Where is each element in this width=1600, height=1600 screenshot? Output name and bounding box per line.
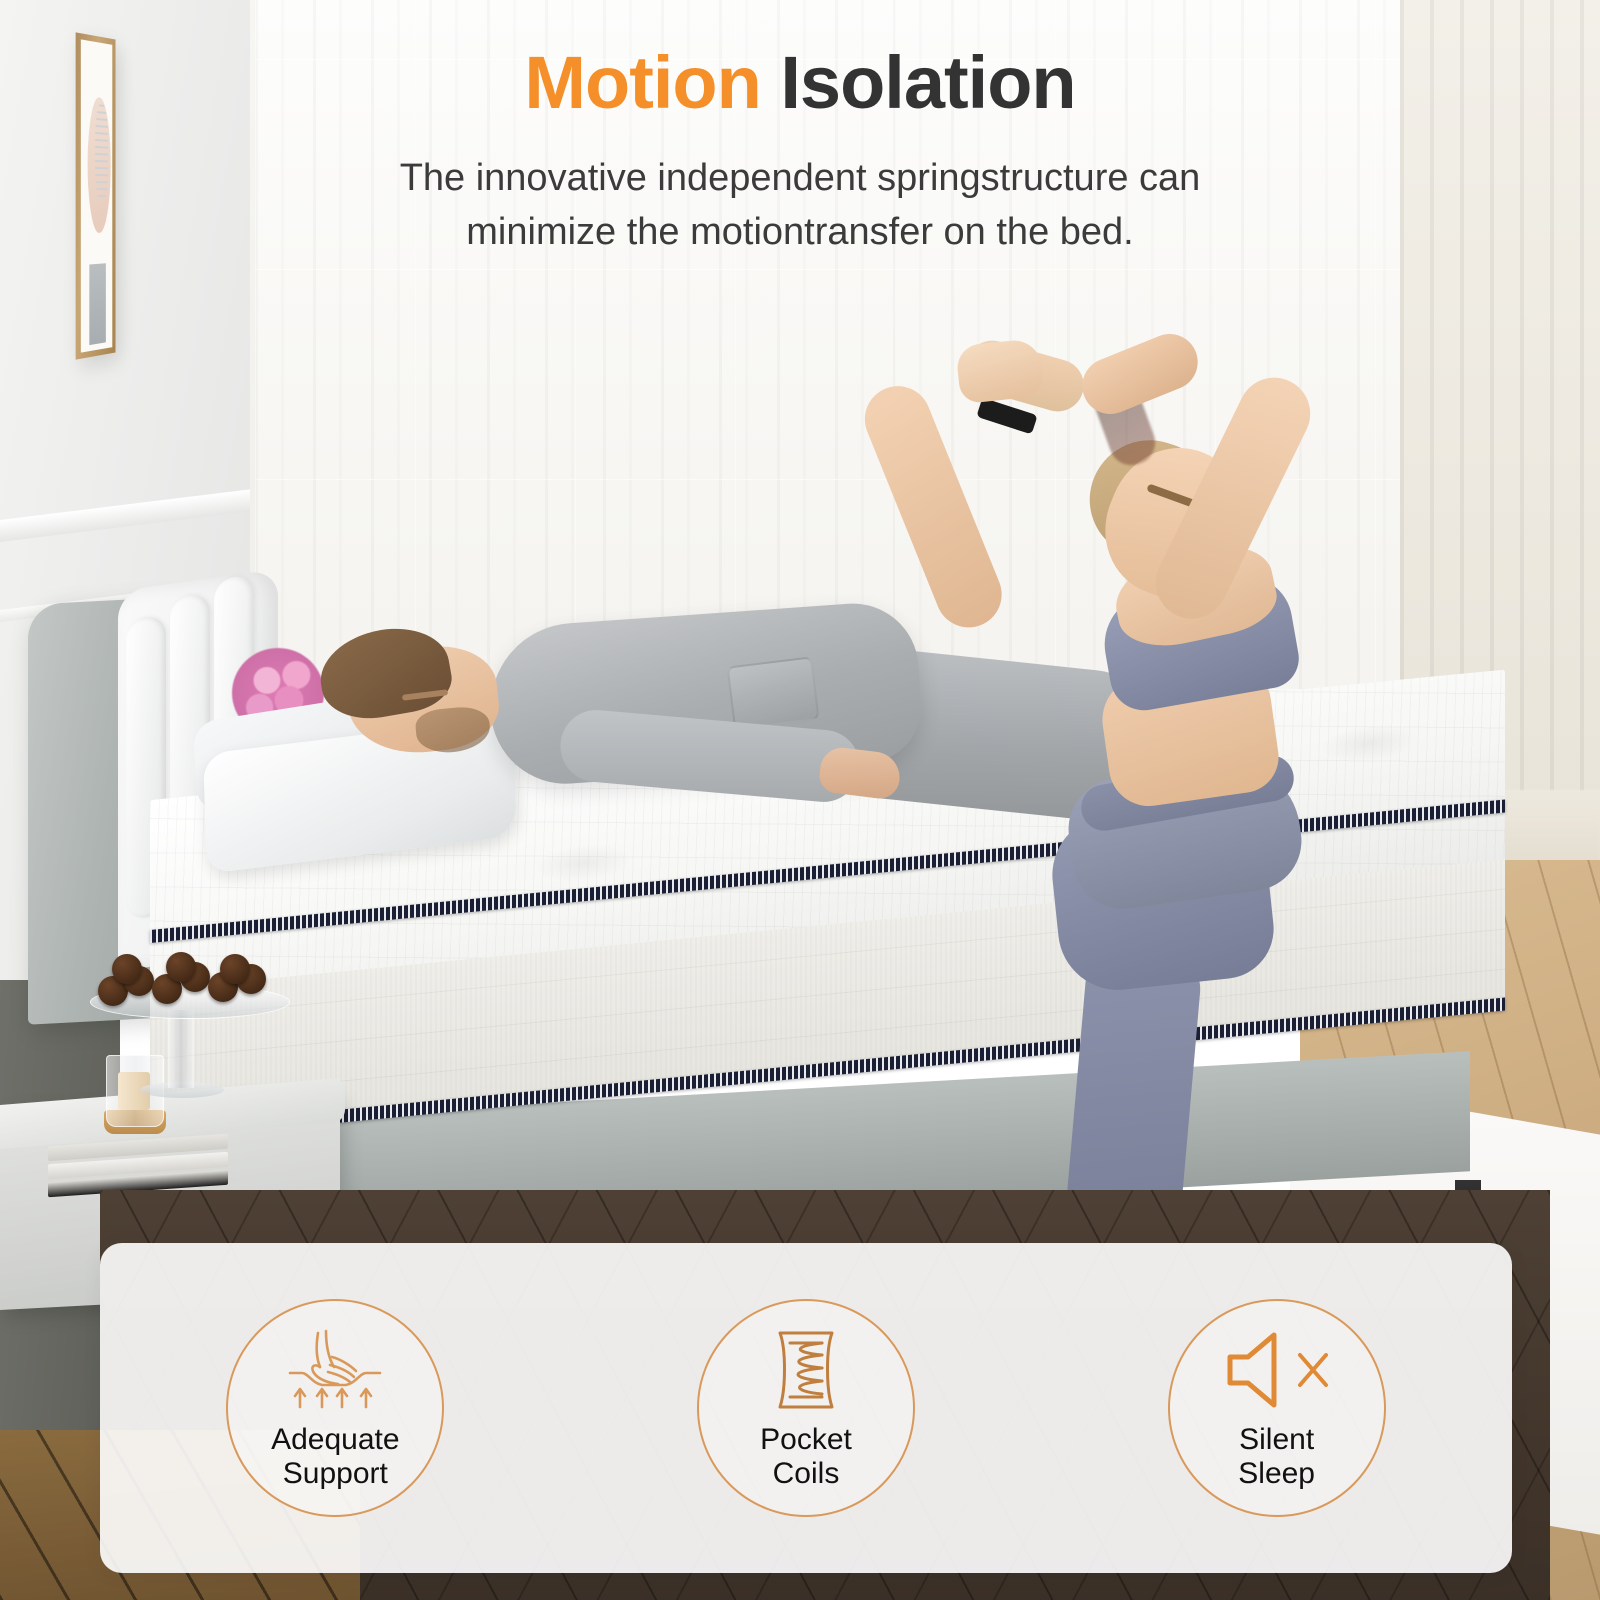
feature-label: Silent Sleep (1238, 1423, 1315, 1491)
feature-panel: Adequate Support Pocket Coils (100, 1243, 1512, 1573)
woman-clasped-hands (955, 338, 1045, 404)
chocolate-truffles (96, 960, 286, 1010)
subtitle-line-2: minimize the motiontransfer on the bed. (0, 206, 1600, 260)
feature-label-line-2: Coils (760, 1457, 852, 1491)
wall-art-rect-shape (89, 263, 105, 345)
title-accent-word: Motion (524, 41, 760, 124)
hand-support-icon (280, 1325, 390, 1415)
subtitle-line-1: The innovative independent springstructu… (0, 152, 1600, 206)
feature-label-line-1: Silent (1238, 1423, 1315, 1457)
feature-badge-adequate-support[interactable]: Adequate Support (226, 1299, 444, 1517)
feature-badge-pocket-coils[interactable]: Pocket Coils (697, 1299, 915, 1517)
page-subtitle: The innovative independent springstructu… (0, 152, 1600, 260)
man-pajama-pocket (727, 656, 820, 730)
feature-label-line-1: Adequate (271, 1423, 399, 1457)
mute-speaker-icon (1222, 1325, 1332, 1415)
feature-label-line-1: Pocket (760, 1423, 852, 1457)
stretching-woman (930, 340, 1350, 1270)
truffle (166, 952, 196, 982)
product-feature-image: Motion Isolation The innovative independ… (0, 0, 1600, 1600)
man-beard (414, 705, 492, 755)
pocket-coil-icon (764, 1325, 848, 1415)
man-head (320, 630, 510, 760)
page-title: Motion Isolation (0, 44, 1600, 122)
feature-label-line-2: Support (271, 1457, 399, 1491)
title-main-word: Isolation (780, 41, 1075, 124)
truffle (220, 954, 250, 984)
truffle (112, 954, 142, 984)
feature-label: Pocket Coils (760, 1423, 852, 1491)
feature-badge-silent-sleep[interactable]: Silent Sleep (1168, 1299, 1386, 1517)
feature-label: Adequate Support (271, 1423, 399, 1491)
cake-stand-stem (168, 1010, 194, 1088)
feature-label-line-2: Sleep (1238, 1457, 1315, 1491)
